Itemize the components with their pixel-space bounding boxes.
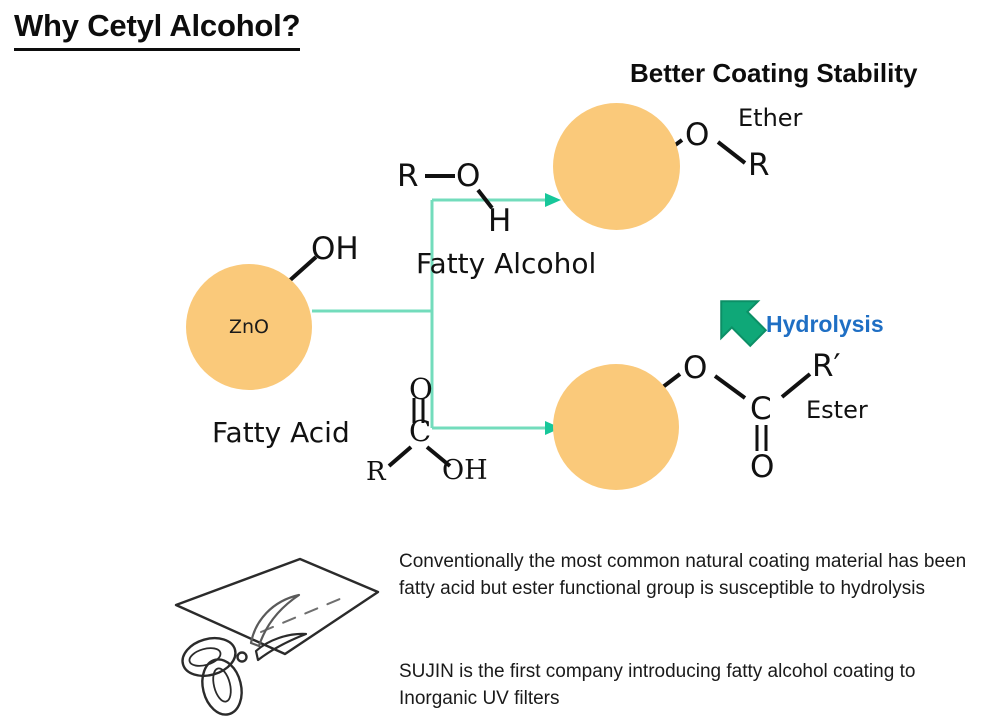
label-fatty-alcohol: Fatty Alcohol	[416, 250, 596, 278]
particle-ester-coated	[553, 364, 679, 490]
note-paragraph-2: SUJIN is the first company introducing f…	[399, 659, 989, 713]
bond-o-r-ether	[718, 142, 745, 163]
scissors-handle-right-inner	[210, 667, 234, 704]
atom-label-alcohol-o: O	[456, 161, 480, 192]
atom-label-alcohol-h: H	[488, 206, 511, 237]
atom-label-surface-oh: OH	[311, 234, 359, 265]
label-ether: Ether	[738, 106, 802, 130]
scissors-cutting-paper-icon	[176, 559, 378, 719]
label-ester: Ester	[806, 398, 868, 422]
arrowhead-ether	[545, 193, 561, 207]
diagram-vector-layer	[0, 0, 1000, 720]
atom-label-alcohol-r: R	[397, 161, 419, 192]
particle-zno: ZnO	[186, 264, 312, 390]
paper-cut-dashed-line	[261, 596, 347, 632]
note-paragraph-1: Conventionally the most common natural c…	[399, 549, 989, 603]
bond-c-rprime-ester	[782, 374, 810, 397]
atom-label-acid-carbonyl-o: O	[409, 375, 433, 404]
section-heading-better-coating-stability: Better Coating Stability	[630, 58, 917, 89]
atom-label-ester-carbonyl-o: O	[750, 452, 774, 483]
atom-label-acid-oh: OH	[442, 457, 488, 484]
atom-label-ester-r-prime: R′	[812, 351, 841, 382]
scissors-blade-lower	[256, 634, 306, 660]
scissors-handle-right	[197, 655, 247, 719]
scissors-handle-left	[178, 632, 240, 681]
page-title: Why Cetyl Alcohol?	[14, 8, 300, 51]
particle-ether-coated	[553, 103, 680, 230]
particle-zno-label: ZnO	[186, 316, 312, 338]
label-fatty-acid: Fatty Acid	[212, 419, 350, 447]
atom-label-acid-c: C	[409, 417, 431, 446]
bond-o-c-ester	[715, 376, 745, 398]
paper-sheet-shape	[176, 559, 378, 654]
scissors-pivot-screw	[238, 653, 247, 662]
atom-label-ether-r: R	[748, 150, 770, 181]
atom-label-ether-o: O	[685, 120, 709, 151]
bond-r-c-acid	[389, 447, 411, 466]
atom-label-ester-o-link: O	[683, 353, 707, 384]
callout-hydrolysis: Hydrolysis	[766, 311, 884, 338]
atom-label-ester-c: C	[750, 394, 772, 425]
scissors-blade-upper	[251, 595, 299, 646]
slide-canvas: Why Cetyl Alcohol? Better Coating Stabil…	[0, 0, 1000, 720]
scissors-handle-left-inner	[187, 645, 222, 669]
atom-label-acid-r: R	[366, 459, 386, 485]
